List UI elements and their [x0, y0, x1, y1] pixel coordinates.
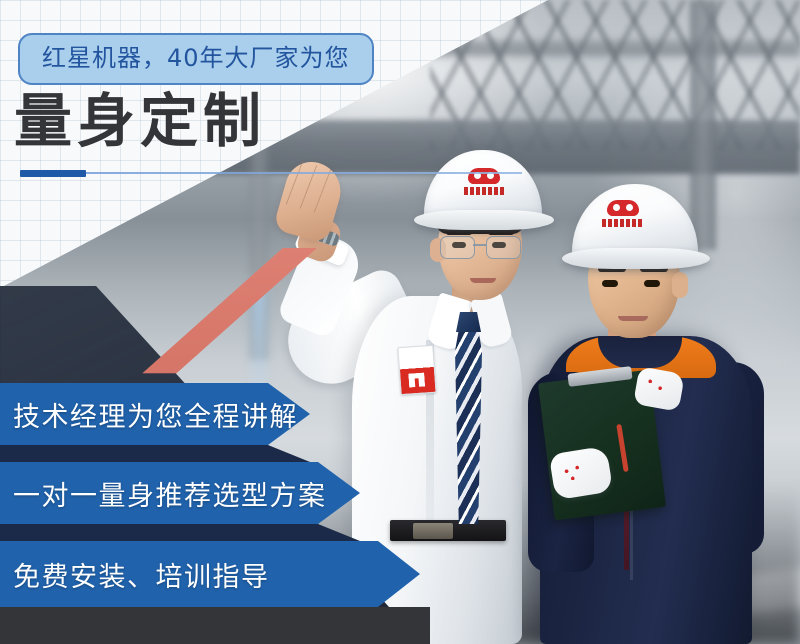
eye-left	[602, 280, 618, 287]
feature-label: 技术经理为您全程讲解	[0, 395, 298, 434]
eye-right	[644, 280, 660, 287]
feature-ribbon-3: 免费安装、培训指导	[0, 541, 420, 607]
logo-mark	[607, 200, 639, 216]
logo-wordmark	[602, 219, 644, 227]
tie-knot	[456, 312, 481, 332]
brand-logo-icon	[602, 200, 644, 230]
hard-hat-brim	[562, 248, 710, 269]
belt-buckle	[413, 523, 453, 539]
promo-banner: 红星机器，40年大厂家为您 量身定制 技术经理为您全程讲解 一对一量身推荐选型方…	[0, 0, 800, 644]
feature-label: 一对一量身推荐选型方案	[0, 474, 327, 513]
tagline-badge: 红星机器，40年大厂家为您	[18, 33, 374, 85]
logo-mark	[468, 168, 500, 184]
ribbon-shadow	[0, 524, 360, 541]
divider-thick	[20, 170, 86, 177]
striped-necktie	[455, 318, 482, 524]
support-column-right	[690, 0, 716, 250]
glasses-bridge	[473, 244, 486, 246]
hard-hat-brim	[414, 210, 554, 230]
mouth	[470, 278, 496, 283]
feature-ribbon-2: 一对一量身推荐选型方案	[0, 462, 360, 524]
bottom-dark-strip	[0, 607, 430, 644]
lens-left	[440, 236, 475, 259]
page-title: 量身定制	[14, 92, 266, 150]
ear	[672, 272, 688, 298]
mouth	[618, 316, 648, 321]
id-badge	[397, 345, 436, 395]
ribbon-shadow	[0, 445, 310, 462]
feature-ribbon-1: 技术经理为您全程讲解	[0, 383, 310, 445]
feature-label: 免费安装、培训指导	[0, 555, 270, 594]
divider-thin	[22, 172, 522, 174]
lens-right	[486, 236, 521, 259]
eyeglasses-icon	[438, 236, 524, 258]
logo-wordmark	[464, 187, 504, 195]
